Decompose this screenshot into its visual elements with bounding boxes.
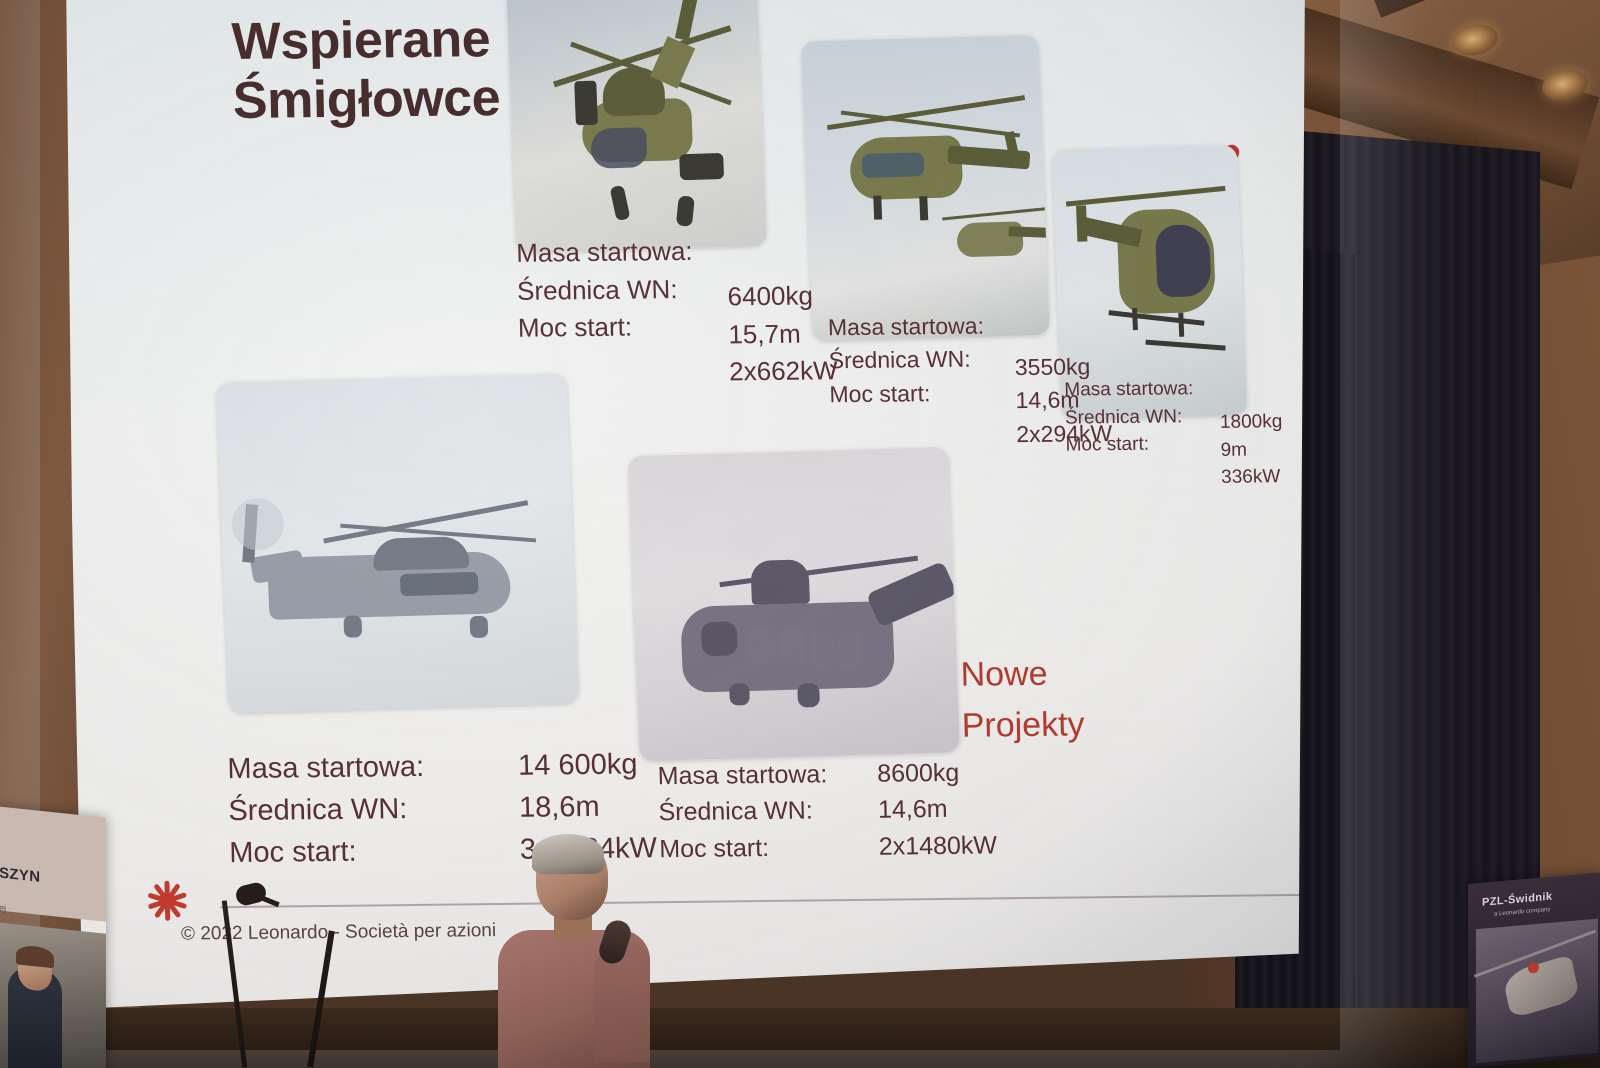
banner-person-hair (16, 944, 54, 968)
spec-values: 6400kg 15,7m 2x662kW (726, 231, 838, 391)
page-title: Wspierane Śmigłowce (231, 9, 554, 131)
spec-labels: Masa startowa: Średnica WN: Moc start: (227, 746, 426, 874)
label-diameter: Średnica WN: (228, 788, 426, 832)
helicopter-illustration (628, 447, 960, 761)
value-mass: 8600kg (877, 754, 996, 792)
value-mass: 14 600kg (518, 743, 656, 787)
slide-canvas: Wspierane Śmigłowce (60, 0, 1333, 1030)
value-power: 336kW (1221, 463, 1284, 491)
value-diameter: 15,7m (728, 315, 837, 354)
label-diameter: Średnica WN: (658, 793, 828, 831)
spec-values: 1800kg 9m 336kW (1219, 374, 1284, 491)
label-mass: Masa startowa: (516, 233, 693, 273)
value-diameter: 18,6m (519, 785, 657, 829)
value-diameter: 14,6m (878, 791, 997, 829)
spec-values: 8600kg 14,6m 2x1480kW (877, 754, 997, 864)
callout-line-2: Projekty (961, 699, 1085, 751)
spec-block-1: Masa startowa: Średnica WN: Moc start: 6… (516, 231, 838, 394)
label-power: Moc start: (518, 308, 695, 348)
page-title-line-2: Śmigłowce (232, 69, 553, 132)
helicopter-illustration (216, 373, 579, 713)
label-diameter: Średnica WN: (517, 271, 694, 311)
label-power: Moc start: (829, 376, 986, 411)
banner-right-photo (1476, 919, 1598, 1064)
spec-block-5: Masa startowa: Średnica WN: Moc start: 8… (657, 754, 997, 867)
projection-screen: Wspierane Śmigłowce (60, 0, 1310, 1030)
helicopter-photo-1 (505, 0, 767, 253)
spec-block-3: Masa startowa: Średnica WN: Moc start: 1… (1064, 374, 1284, 493)
spec-labels: Masa startowa: Średnica WN: Moc start: (828, 310, 987, 454)
roll-up-banner-left: ASZYN A skiej (0, 806, 106, 1068)
photo-of-presentation-room: Wspierane Śmigłowce (0, 0, 1600, 1068)
label-mass: Masa startowa: (1064, 375, 1193, 404)
leonardo-starburst-logo-icon (140, 873, 195, 928)
spec-labels: Masa startowa: Średnica WN: Moc start: (657, 756, 829, 867)
label-power: Moc start: (229, 830, 427, 874)
banner-left-header: ASZYN A skiej (0, 806, 106, 922)
label-diameter: Średnica WN: (1065, 403, 1194, 432)
spec-labels: Masa startowa: Średnica WN: Moc start: (516, 233, 696, 394)
footer-divider (220, 894, 1305, 908)
banner-heli-illustration (1502, 954, 1580, 1019)
value-mass: 1800kg (1220, 408, 1283, 436)
label-mass: Masa startowa: (657, 756, 827, 794)
label-power: Moc start: (659, 829, 829, 867)
value-diameter: 9m (1220, 436, 1283, 464)
callout-line-1: Nowe (960, 648, 1084, 700)
label-mass: Masa startowa: (227, 746, 425, 790)
helicopter-photo-2 (801, 35, 1050, 342)
label-power: Moc start: (1065, 430, 1194, 459)
helicopter-photo-4 (216, 373, 579, 713)
label-mass: Masa startowa: (828, 310, 985, 345)
helicopter-illustration (801, 35, 1050, 342)
presenter-hair (532, 834, 604, 874)
helicopter-photo-5 (628, 447, 960, 761)
roll-up-banner-right: PZL-Świdnik a Leonardo company (1468, 872, 1600, 1068)
helicopter-illustration (505, 0, 767, 253)
spec-labels: Masa startowa: Średnica WN: Moc start: (1064, 375, 1195, 493)
label-diameter: Średnica WN: (828, 343, 985, 378)
banner-left-photo (0, 922, 106, 1068)
value-power: 2x1480kW (878, 827, 997, 865)
callout-new-projects: Nowe Projekty (960, 648, 1085, 751)
value-power: 2x662kW (729, 353, 838, 392)
presenter-person (498, 838, 658, 1068)
page-title-line-1: Wspierane (231, 9, 552, 72)
value-mass: 6400kg (727, 277, 836, 316)
